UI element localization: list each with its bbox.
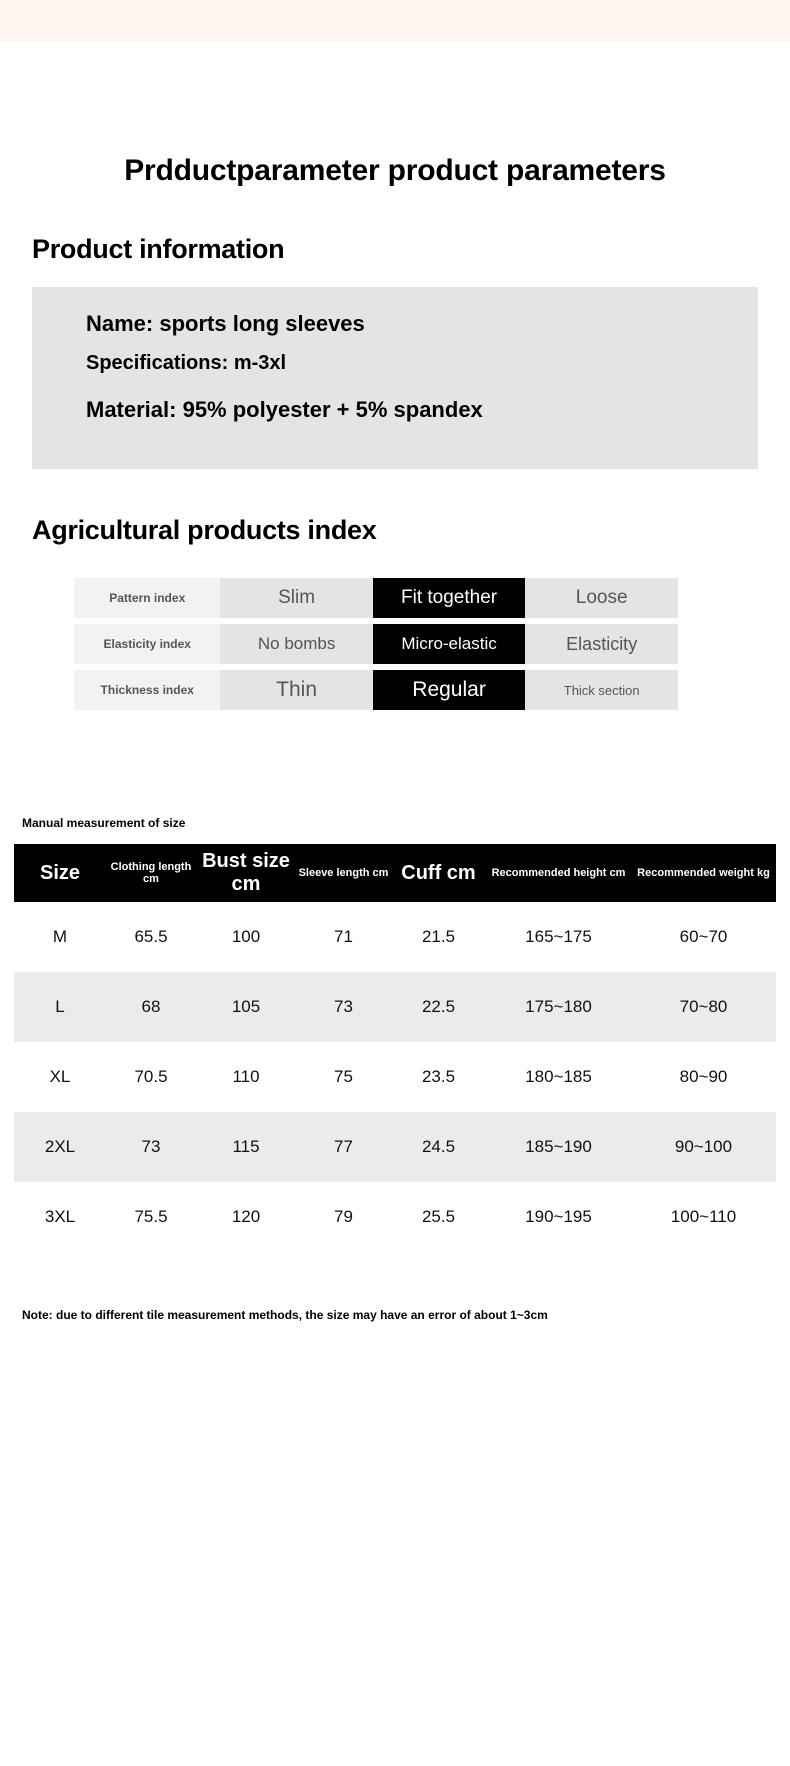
index-option-thickness-thick-section[interactable]: Thick section bbox=[525, 670, 678, 710]
manual-measurement-note: Manual measurement of size bbox=[0, 716, 790, 830]
product-material: Material: 95% polyester + 5% spandex bbox=[32, 399, 758, 421]
cell-recommended-weight: 90~100 bbox=[631, 1112, 776, 1182]
cell-recommended-weight: 100~110 bbox=[631, 1182, 776, 1252]
cell-size: 2XL bbox=[14, 1112, 106, 1182]
cell-recommended-weight: 80~90 bbox=[631, 1042, 776, 1112]
cell-cuff: 22.5 bbox=[391, 972, 486, 1042]
size-header-recommended-height: Recommended height cm bbox=[486, 844, 631, 902]
cell-size: M bbox=[14, 902, 106, 972]
cell-recommended-height: 185~190 bbox=[486, 1112, 631, 1182]
index-option-thickness-regular[interactable]: Regular bbox=[373, 670, 526, 710]
table-row: XL 70.5 110 75 23.5 180~185 80~90 bbox=[14, 1042, 776, 1112]
index-row-pattern: Pattern index Slim Fit together Loose bbox=[74, 578, 678, 618]
index-label-pattern: Pattern index bbox=[74, 578, 220, 618]
size-header-sleeve-length: Sleeve length cm bbox=[296, 844, 391, 902]
product-information-heading: Product information bbox=[0, 190, 790, 265]
cell-recommended-height: 180~185 bbox=[486, 1042, 631, 1112]
cell-clothing-length: 75.5 bbox=[106, 1182, 196, 1252]
cell-sleeve-length: 79 bbox=[296, 1182, 391, 1252]
cell-bust-size: 100 bbox=[196, 902, 296, 972]
cell-size: 3XL bbox=[14, 1182, 106, 1252]
table-row: M 65.5 100 71 21.5 165~175 60~70 bbox=[14, 902, 776, 972]
index-option-pattern-slim[interactable]: Slim bbox=[220, 578, 372, 618]
index-option-pattern-loose[interactable]: Loose bbox=[525, 578, 678, 618]
cell-clothing-length: 70.5 bbox=[106, 1042, 196, 1112]
size-header-size: Size bbox=[14, 844, 106, 902]
products-index-heading: Agricultural products index bbox=[0, 469, 790, 546]
size-header-bust-size: Bust size cm bbox=[196, 844, 296, 902]
size-header-clothing-length: Clothing length cm bbox=[106, 844, 196, 902]
cell-size: L bbox=[14, 972, 106, 1042]
cell-recommended-weight: 60~70 bbox=[631, 902, 776, 972]
cell-sleeve-length: 75 bbox=[296, 1042, 391, 1112]
cell-sleeve-length: 73 bbox=[296, 972, 391, 1042]
index-option-thickness-thin[interactable]: Thin bbox=[220, 670, 372, 710]
cell-cuff: 21.5 bbox=[391, 902, 486, 972]
size-table-header-row: Size Clothing length cm Bust size cm Sle… bbox=[14, 844, 776, 902]
index-option-elasticity-elasticity[interactable]: Elasticity bbox=[525, 624, 678, 664]
size-header-cuff: Cuff cm bbox=[391, 844, 486, 902]
cell-cuff: 23.5 bbox=[391, 1042, 486, 1112]
index-label-thickness: Thickness index bbox=[74, 670, 220, 710]
table-row: L 68 105 73 22.5 175~180 70~80 bbox=[14, 972, 776, 1042]
cell-cuff: 25.5 bbox=[391, 1182, 486, 1252]
cell-clothing-length: 68 bbox=[106, 972, 196, 1042]
cell-bust-size: 105 bbox=[196, 972, 296, 1042]
index-table: Pattern index Slim Fit together Loose El… bbox=[74, 572, 678, 716]
cell-bust-size: 115 bbox=[196, 1112, 296, 1182]
cell-size: XL bbox=[14, 1042, 106, 1112]
page-title: Prdductparameter product parameters bbox=[0, 42, 790, 190]
cell-cuff: 24.5 bbox=[391, 1112, 486, 1182]
top-color-band bbox=[0, 0, 790, 42]
cell-clothing-length: 73 bbox=[106, 1112, 196, 1182]
cell-recommended-height: 175~180 bbox=[486, 972, 631, 1042]
index-option-elasticity-micro-elastic[interactable]: Micro-elastic bbox=[373, 624, 526, 664]
product-specifications: Specifications: m-3xl bbox=[32, 353, 758, 373]
index-option-pattern-fit-together[interactable]: Fit together bbox=[373, 578, 526, 618]
index-row-elasticity: Elasticity index No bombs Micro-elastic … bbox=[74, 624, 678, 664]
cell-bust-size: 120 bbox=[196, 1182, 296, 1252]
product-information-box: Name: sports long sleeves Specifications… bbox=[32, 287, 758, 469]
product-parameter-page: Prdductparameter product parameters Prod… bbox=[0, 42, 790, 1322]
cell-recommended-height: 190~195 bbox=[486, 1182, 631, 1252]
cell-sleeve-length: 77 bbox=[296, 1112, 391, 1182]
cell-sleeve-length: 71 bbox=[296, 902, 391, 972]
size-error-note: Note: due to different tile measurement … bbox=[0, 1252, 790, 1322]
table-row: 2XL 73 115 77 24.5 185~190 90~100 bbox=[14, 1112, 776, 1182]
index-label-elasticity: Elasticity index bbox=[74, 624, 220, 664]
cell-clothing-length: 65.5 bbox=[106, 902, 196, 972]
cell-recommended-height: 165~175 bbox=[486, 902, 631, 972]
index-row-thickness: Thickness index Thin Regular Thick secti… bbox=[74, 670, 678, 710]
table-row: 3XL 75.5 120 79 25.5 190~195 100~110 bbox=[14, 1182, 776, 1252]
cell-recommended-weight: 70~80 bbox=[631, 972, 776, 1042]
product-name: Name: sports long sleeves bbox=[32, 313, 758, 335]
cell-bust-size: 110 bbox=[196, 1042, 296, 1112]
index-option-elasticity-no-bombs[interactable]: No bombs bbox=[220, 624, 372, 664]
size-header-recommended-weight: Recommended weight kg bbox=[631, 844, 776, 902]
size-chart-table: Size Clothing length cm Bust size cm Sle… bbox=[14, 844, 776, 1252]
